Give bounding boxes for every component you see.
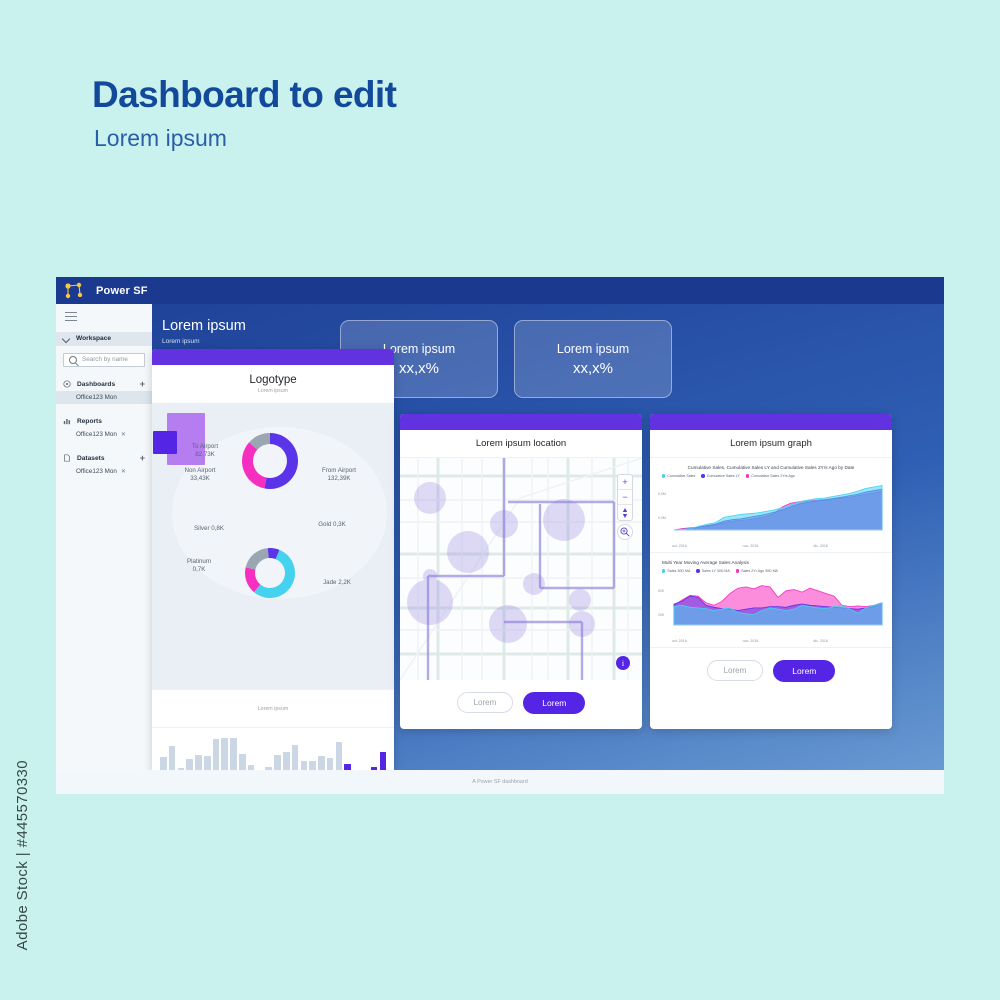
- legend-item[interactable]: Cumulative Sales: [662, 474, 695, 478]
- xtick: dic. 2016: [813, 639, 884, 643]
- donut-label-jade: Jade 2,2K: [302, 579, 372, 587]
- hamburger-icon[interactable]: [56, 304, 152, 332]
- graph-title: Lorem ipsum graph: [650, 430, 892, 458]
- legend-item[interactable]: Cumulative Sales 2Yrs Ago: [746, 474, 795, 478]
- cumulative-sales-xaxis: oct. 2016 nov. 2016 dic. 2016: [658, 544, 884, 548]
- search-icon: [69, 356, 77, 364]
- close-icon[interactable]: ✕: [121, 431, 126, 438]
- card-map: Lorem ipsum location: [400, 414, 642, 729]
- ytick-high: 0,5M: [658, 492, 666, 496]
- content-area: Lorem ipsum Lorem ipsum xx% Lorem ipsum …: [152, 304, 944, 794]
- window-footer: A Power SF dashboard: [56, 770, 944, 794]
- xtick: nov. 2016: [743, 544, 814, 548]
- map-title: Lorem ipsum location: [400, 430, 642, 458]
- donut-label-platinum: Platinum0,7K: [166, 558, 232, 575]
- legend-item[interactable]: Sales 2Yr Ago 30D MA: [736, 569, 778, 573]
- compass-icon[interactable]: [618, 505, 632, 520]
- zoom-in-button[interactable]: +: [618, 475, 632, 490]
- sidebar-label-dashboards: Dashboards: [77, 381, 115, 388]
- dashboard-icon: [63, 380, 71, 388]
- magnifier-icon: [620, 527, 630, 537]
- moving-average-legend: Sales 30D MA Sales LY 30D MA Sales 2Yr A…: [662, 569, 884, 573]
- sidebar-group-reports: Reports Office123 Mon ✕: [56, 415, 152, 441]
- app-name: Power SF: [96, 285, 148, 297]
- bar: [230, 738, 237, 774]
- logotype-subtitle: Lorem ipsum: [152, 388, 394, 394]
- logotype-header: Logotype Lorem ipsum: [152, 365, 394, 403]
- sidebar-item-dashboards[interactable]: Dashboards +: [56, 378, 152, 391]
- graph-secondary-button[interactable]: Lorem: [707, 660, 764, 681]
- sidebar-subitem-dataset[interactable]: Office123 Mon ✕: [56, 465, 152, 478]
- card-accent-bar: [650, 414, 892, 430]
- cumulative-sales-legend: Cumulative Sales Cumulative Sales LY Cum…: [662, 474, 884, 478]
- map-graphic: [400, 458, 642, 680]
- workspace-label: Workspace: [76, 335, 111, 342]
- moving-average-title: Multi Year Moving Average Sales Analysis: [658, 560, 884, 565]
- donut-label-non-airport: Non Airport33,43K: [166, 467, 234, 484]
- donut-label-silver: Silver 0,8K: [174, 525, 244, 533]
- bar-chart-icon: [63, 417, 71, 425]
- sidebar-subitem-label: Office123 Mon: [76, 431, 117, 438]
- xtick: oct. 2016: [672, 639, 743, 643]
- sidebar-group-datasets: Datasets + Office123 Mon ✕: [56, 452, 152, 478]
- stock-id-label: Adobe Stock | #445570330: [14, 760, 31, 950]
- cumulative-sales-title: Cumulative Sales, Cumulative Sales LY an…: [658, 465, 884, 470]
- card-graph: Lorem ipsum graph Cumulative Sales, Cumu…: [650, 414, 892, 729]
- donut-label-gold: Gold 0,3K: [297, 521, 367, 529]
- card1-mid-label-row: Lorem ipsum: [152, 689, 394, 728]
- map-canvas[interactable]: + −: [400, 458, 642, 680]
- xtick: oct. 2016: [672, 544, 743, 548]
- legend-item[interactable]: Sales LY 30D MA: [696, 569, 729, 573]
- sidebar-subitem-dashboard[interactable]: Office123 Mon: [56, 391, 152, 404]
- page-title: Dashboard to edit: [92, 74, 396, 116]
- cumulative-sales-panel: Cumulative Sales, Cumulative Sales LY an…: [650, 458, 892, 553]
- map-primary-button[interactable]: Lorem: [523, 692, 585, 714]
- map-card-footer: Lorem Lorem: [400, 680, 642, 725]
- search-placeholder: Search by name: [82, 356, 128, 363]
- xtick: nov. 2016: [743, 639, 814, 643]
- page-subtitle: Lorem ipsum: [94, 125, 227, 152]
- cumulative-sales-plot: 0,0M 0,5M: [658, 480, 884, 543]
- donut-label-from-airport: From Airport132,39K: [302, 467, 376, 484]
- chevron-down-icon: [63, 335, 70, 342]
- footer-text: A Power SF dashboard: [472, 779, 527, 785]
- card-accent-bar: [152, 349, 394, 365]
- bar: [221, 738, 228, 774]
- kpi-label: Lorem ipsum: [557, 342, 629, 356]
- kpi-value: xx,x%: [399, 360, 439, 377]
- xtick: dic. 2016: [813, 544, 884, 548]
- map-secondary-button[interactable]: Lorem: [457, 692, 514, 713]
- graph-card-footer: Lorem Lorem: [650, 648, 892, 693]
- add-dataset-button[interactable]: +: [140, 454, 145, 462]
- donut-label-to-airport: To Airport82,73K: [174, 443, 236, 460]
- ytick-low: 20K: [658, 613, 664, 617]
- hero-subtitle: Lorem ipsum: [162, 338, 330, 345]
- sidebar-label-reports: Reports: [77, 418, 102, 425]
- kpi-card[interactable]: Lorem ipsum xx,x%: [514, 320, 672, 398]
- search-input[interactable]: Search by name: [63, 353, 145, 367]
- bar: [213, 739, 220, 774]
- bar-chart: [160, 734, 386, 774]
- node-graph-icon: [64, 282, 86, 300]
- area-series: [674, 486, 882, 531]
- logotype-title: Logotype: [152, 374, 394, 386]
- sidebar-item-datasets[interactable]: Datasets +: [56, 452, 152, 465]
- title-bar: Power SF: [56, 277, 944, 304]
- card1-mid-label: Lorem ipsum: [258, 706, 289, 712]
- bar-chart-section: Lorem ipsum Lorem ipsum Lorem ipsum Lore…: [152, 728, 394, 774]
- sidebar-subitem-label: Office123 Mon: [76, 468, 117, 475]
- legend-item[interactable]: Sales 30D MA: [662, 569, 690, 573]
- file-icon: [63, 454, 71, 462]
- app-window: Power SF Workspace Search by name: [56, 277, 944, 794]
- map-zoom-controls[interactable]: + −: [617, 474, 633, 521]
- map-info-button[interactable]: i: [616, 656, 630, 670]
- card-accent-bar: [400, 414, 642, 430]
- map-search-button[interactable]: [617, 524, 633, 540]
- card-logotype: Logotype Lorem ipsum To Airport82,73K: [152, 349, 394, 774]
- zoom-out-button[interactable]: −: [618, 490, 632, 505]
- sidebar-workspace[interactable]: Workspace: [56, 332, 152, 346]
- donut-section: To Airport82,73K Non Airport33,43K From …: [152, 403, 394, 689]
- graph-primary-button[interactable]: Lorem: [773, 660, 835, 682]
- sidebar-subitem-label: Office123 Mon: [76, 394, 117, 401]
- ytick-low: 0,0M: [658, 516, 666, 520]
- sidebar-group-dashboards: Dashboards + Office123 Mon: [56, 378, 152, 404]
- moving-average-plot: 20K 60K: [658, 575, 884, 638]
- sidebar: Workspace Search by name Dashboards +: [56, 304, 152, 794]
- kpi-value: xx,x%: [573, 360, 613, 377]
- poster-stage: Dashboard to edit Lorem ipsum Adobe Stoc…: [0, 0, 1000, 1000]
- moving-average-xaxis: oct. 2016 nov. 2016 dic. 2016: [658, 639, 884, 643]
- add-dashboard-button[interactable]: +: [140, 380, 145, 388]
- sidebar-subitem-report[interactable]: Office123 Mon ✕: [56, 428, 152, 441]
- hero-title: Lorem ipsum: [162, 318, 330, 334]
- legend-item[interactable]: Cumulative Sales LY: [701, 474, 739, 478]
- ytick-high: 60K: [658, 589, 664, 593]
- sidebar-label-datasets: Datasets: [77, 455, 105, 462]
- moving-average-panel: Multi Year Moving Average Sales Analysis…: [650, 553, 892, 648]
- close-icon[interactable]: ✕: [121, 468, 126, 475]
- sidebar-item-reports[interactable]: Reports: [56, 415, 152, 428]
